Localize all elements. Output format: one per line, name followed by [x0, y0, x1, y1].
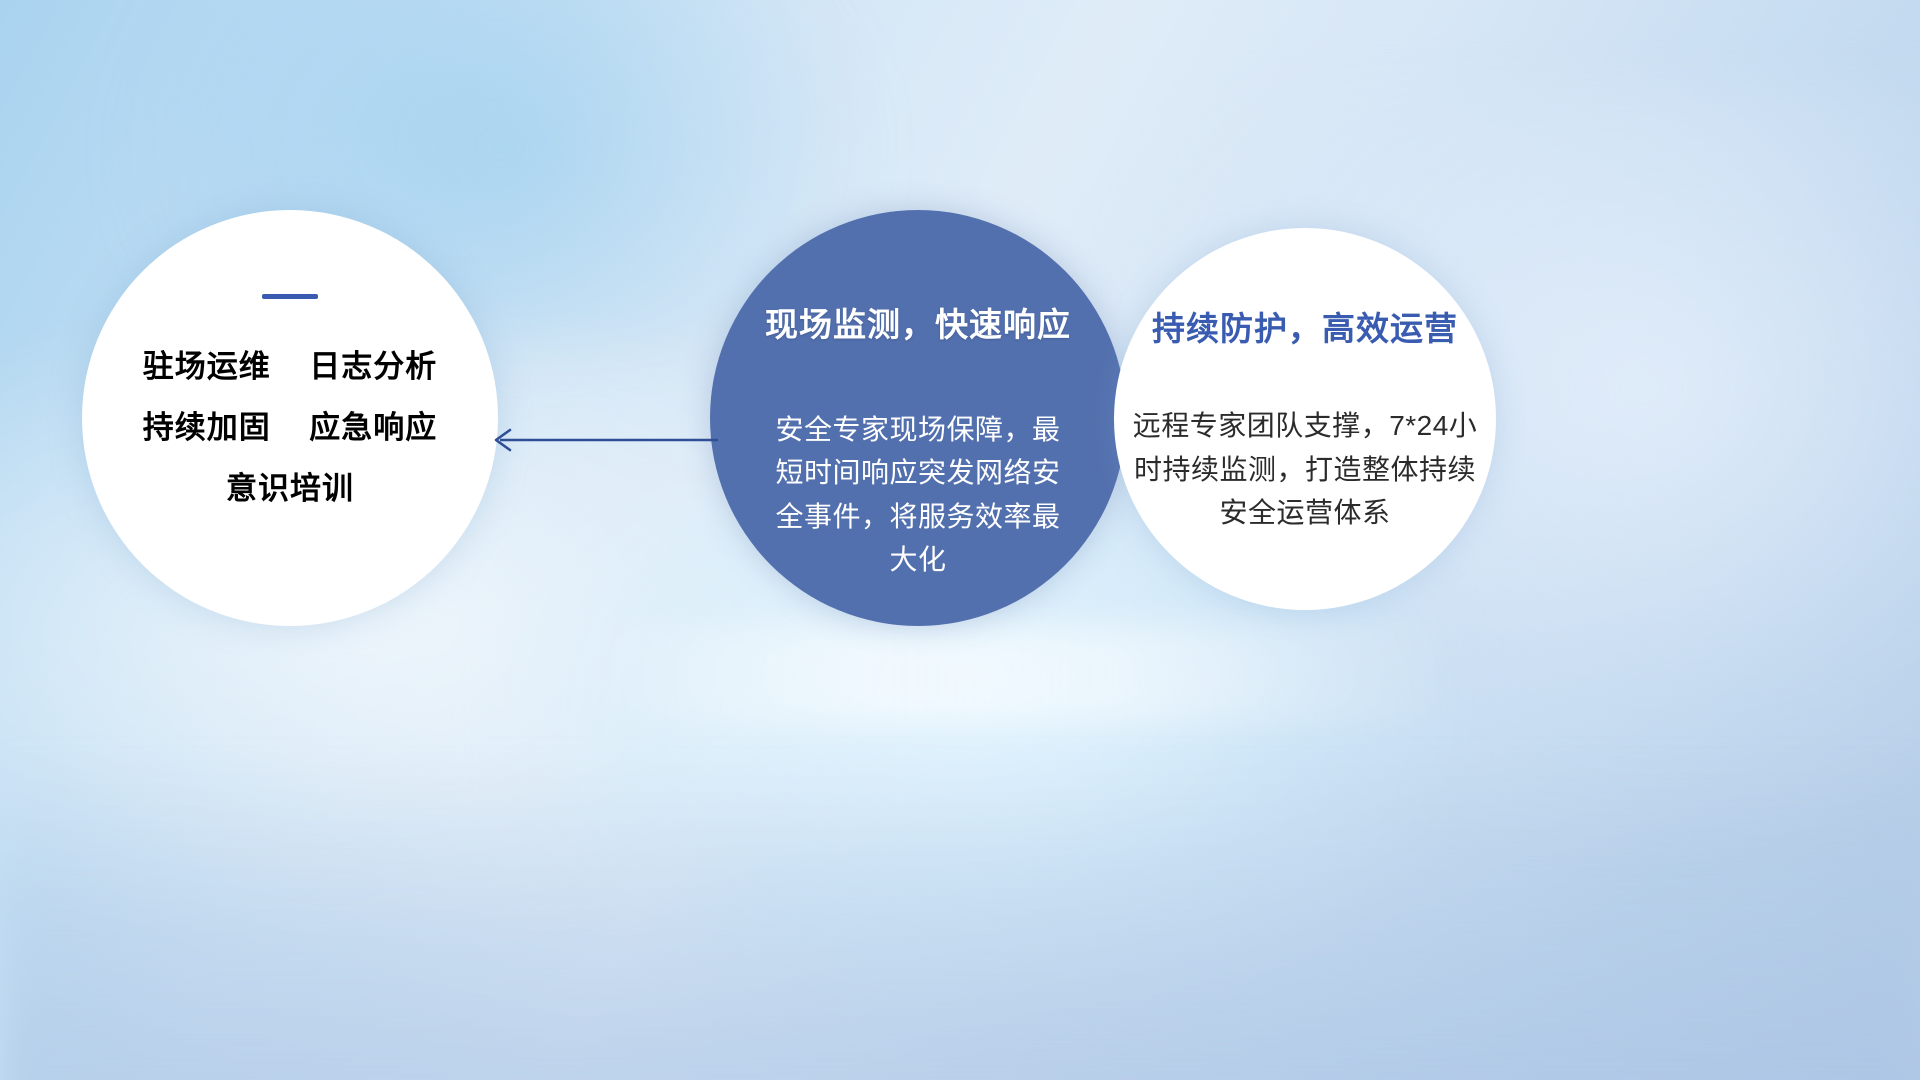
- left-service-line-3: 意识培训: [226, 473, 354, 504]
- connector-arrow: [480, 415, 720, 465]
- right-circle-title: 持续防护，高效运营: [1152, 302, 1458, 350]
- arrow-left-icon: [480, 415, 720, 465]
- left-service-line-1: 驻场运维 日志分析: [143, 351, 437, 382]
- divider-dash: [262, 294, 318, 299]
- middle-circle-shape: [710, 210, 1126, 626]
- right-circle-body: 远程专家团队支撑，7*24小时持续监测，打造整体持续安全运营体系: [1125, 404, 1485, 535]
- left-service-line-2: 持续加固 应急响应: [143, 412, 437, 443]
- left-circle-content: 驻场运维 日志分析 持续加固 应急响应 意识培训: [82, 210, 498, 626]
- background-glow-bottom: [0, 756, 1920, 1080]
- right-circle-content: 持续防护，高效运营 远程专家团队支撑，7*24小时持续监测，打造整体持续安全运营…: [1114, 228, 1496, 610]
- background-light-streak: [576, 626, 1459, 723]
